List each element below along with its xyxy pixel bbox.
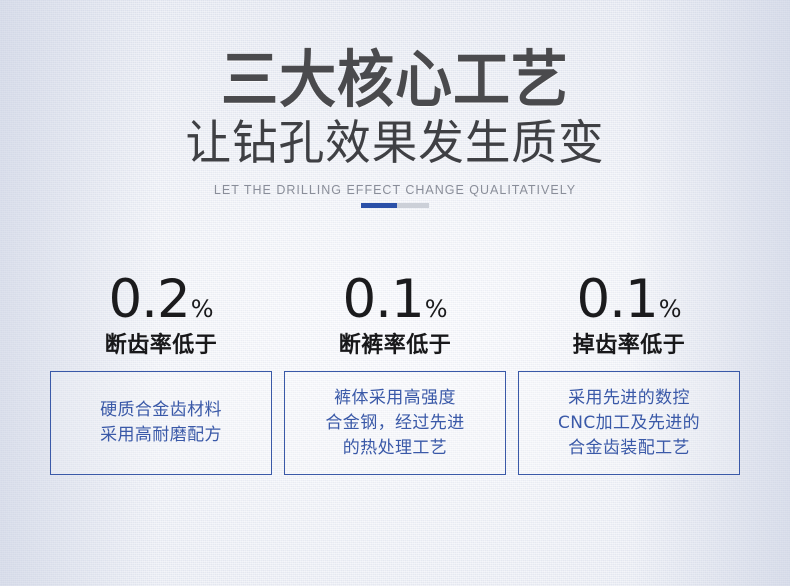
stat-percent-sign-2: % bbox=[425, 295, 448, 323]
stat-percent-sign-1: % bbox=[191, 295, 214, 323]
section-divider bbox=[361, 203, 429, 208]
stat-number-1: 0.2 bbox=[108, 272, 189, 328]
divider-accent-segment bbox=[361, 203, 397, 208]
divider-track-segment bbox=[397, 203, 429, 208]
feature-box-1: 硬质合金齿材料 采用高耐磨配方 bbox=[50, 371, 272, 475]
stat-value-group-3: 0.1% bbox=[518, 272, 740, 328]
page-title: 三大核心工艺 bbox=[32, 48, 759, 112]
feature-box-text-1: 硬质合金齿材料 采用高耐磨配方 bbox=[100, 398, 222, 448]
stat-column-1: 0.2% 断齿率低于 bbox=[50, 272, 272, 359]
promo-poster: 三大核心工艺 让钻孔效果发生质变 LET THE DRILLING EFFECT… bbox=[0, 0, 790, 586]
heading-block: 三大核心工艺 让钻孔效果发生质变 LET THE DRILLING EFFECT… bbox=[0, 48, 790, 198]
feature-box-2: 裤体采用高强度 合金钢，经过先进 的热处理工艺 bbox=[284, 371, 506, 475]
page-subtitle: 让钻孔效果发生质变 bbox=[12, 118, 778, 170]
stat-label-1: 断齿率低于 bbox=[50, 333, 272, 359]
stat-column-2: 0.1% 断裤率低于 bbox=[284, 272, 506, 359]
feature-box-3: 采用先进的数控 CNC加工及先进的 合金齿装配工艺 bbox=[518, 371, 740, 475]
stat-value-group-2: 0.1% bbox=[284, 272, 506, 328]
stat-number-2: 0.1 bbox=[342, 272, 423, 328]
page-subtitle-english: LET THE DRILLING EFFECT CHANGE QUALITATI… bbox=[0, 182, 790, 198]
stat-label-3: 掉齿率低于 bbox=[518, 333, 740, 359]
stats-row: 0.2% 断齿率低于 0.1% 断裤率低于 0.1% 掉齿率低于 bbox=[50, 272, 740, 359]
feature-box-text-3: 采用先进的数控 CNC加工及先进的 合金齿装配工艺 bbox=[558, 386, 700, 461]
stat-percent-sign-3: % bbox=[659, 295, 682, 323]
feature-box-text-2: 裤体采用高强度 合金钢，经过先进 的热处理工艺 bbox=[325, 386, 464, 461]
stat-value-group-1: 0.2% bbox=[50, 272, 272, 328]
feature-box-row: 硬质合金齿材料 采用高耐磨配方 裤体采用高强度 合金钢，经过先进 的热处理工艺 … bbox=[50, 371, 740, 475]
stat-column-3: 0.1% 掉齿率低于 bbox=[518, 272, 740, 359]
stat-number-3: 0.1 bbox=[576, 272, 657, 328]
stat-label-2: 断裤率低于 bbox=[284, 333, 506, 359]
